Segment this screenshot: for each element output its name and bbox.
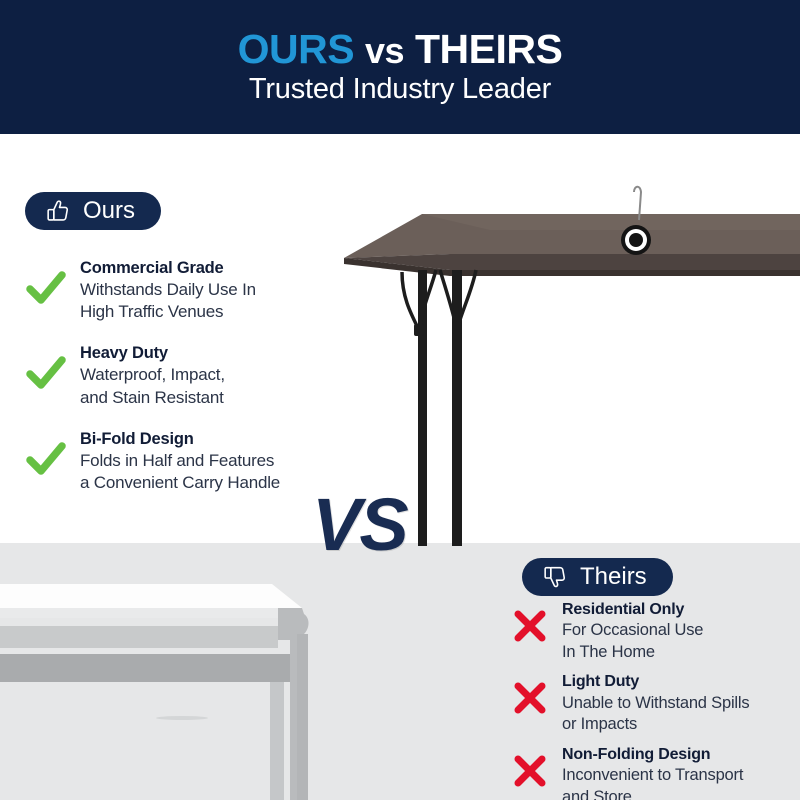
versus-label: VS <box>312 488 407 562</box>
feature-desc-line: For Occasional Use <box>562 620 703 641</box>
feature-desc-line: Withstands Daily Use In <box>80 279 256 301</box>
theirs-product-image <box>0 548 352 800</box>
title-theirs-word: THEIRS <box>415 26 562 72</box>
theirs-badge[interactable]: Theirs <box>522 558 673 596</box>
feature-desc-line: and Store <box>562 787 743 800</box>
thumbs-up-icon <box>45 198 71 224</box>
ours-badge-label: Ours <box>83 199 135 223</box>
check-icon <box>26 268 66 310</box>
feature-desc-line: Waterproof, Impact, <box>80 364 225 386</box>
feature-text: Light Duty Unable to Withstand Spills or… <box>562 672 749 735</box>
ours-badge[interactable]: Ours <box>25 192 161 230</box>
list-item: Commercial Grade Withstands Daily Use In… <box>26 258 356 323</box>
feature-text: Residential Only For Occasional Use In T… <box>562 600 703 663</box>
theirs-badge-label: Theirs <box>580 565 647 589</box>
feature-title: Non-Folding Design <box>562 745 743 765</box>
title-ours-word: OURS <box>238 26 354 72</box>
feature-title: Bi-Fold Design <box>80 429 280 450</box>
page-subtitle: Trusted Industry Leader <box>249 73 551 106</box>
list-item: Residential Only For Occasional Use In T… <box>512 600 797 663</box>
feature-desc-line: High Traffic Venues <box>80 301 256 323</box>
ours-product-image <box>340 178 800 546</box>
check-icon <box>26 353 66 395</box>
title-vs-word: vs <box>365 30 404 71</box>
feature-desc-line: or Impacts <box>562 714 749 735</box>
list-item: Bi-Fold Design Folds in Half and Feature… <box>26 429 356 494</box>
cross-icon <box>512 753 548 789</box>
feature-desc-line: Folds in Half and Features <box>80 450 280 472</box>
theirs-feature-list: Residential Only For Occasional Use In T… <box>512 600 797 800</box>
feature-text: Non-Folding Design Inconvenient to Trans… <box>562 745 743 800</box>
feature-title: Residential Only <box>562 600 703 620</box>
feature-desc-line: In The Home <box>562 642 703 663</box>
cross-icon <box>512 680 548 716</box>
feature-text: Commercial Grade Withstands Daily Use In… <box>80 258 256 323</box>
feature-text: Heavy Duty Waterproof, Impact, and Stain… <box>80 343 225 408</box>
list-item: Non-Folding Design Inconvenient to Trans… <box>512 745 797 800</box>
header-banner: OURS vs THEIRS Trusted Industry Leader <box>0 0 800 134</box>
feature-desc-line: a Convenient Carry Handle <box>80 472 280 494</box>
thumbs-down-icon <box>542 564 568 590</box>
page-title: OURS vs THEIRS <box>238 28 563 71</box>
feature-title: Light Duty <box>562 672 749 692</box>
feature-title: Heavy Duty <box>80 343 225 364</box>
list-item: Light Duty Unable to Withstand Spills or… <box>512 672 797 735</box>
feature-desc-line: Unable to Withstand Spills <box>562 693 749 714</box>
list-item: Heavy Duty Waterproof, Impact, and Stain… <box>26 343 356 408</box>
check-icon <box>26 439 66 481</box>
feature-title: Commercial Grade <box>80 258 256 279</box>
feature-desc-line: and Stain Resistant <box>80 387 225 409</box>
feature-text: Bi-Fold Design Folds in Half and Feature… <box>80 429 280 494</box>
feature-desc-line: Inconvenient to Transport <box>562 765 743 786</box>
ours-feature-list: Commercial Grade Withstands Daily Use In… <box>26 258 356 514</box>
comparison-infographic: OURS vs THEIRS Trusted Industry Leader <box>0 0 800 800</box>
cross-icon <box>512 608 548 644</box>
